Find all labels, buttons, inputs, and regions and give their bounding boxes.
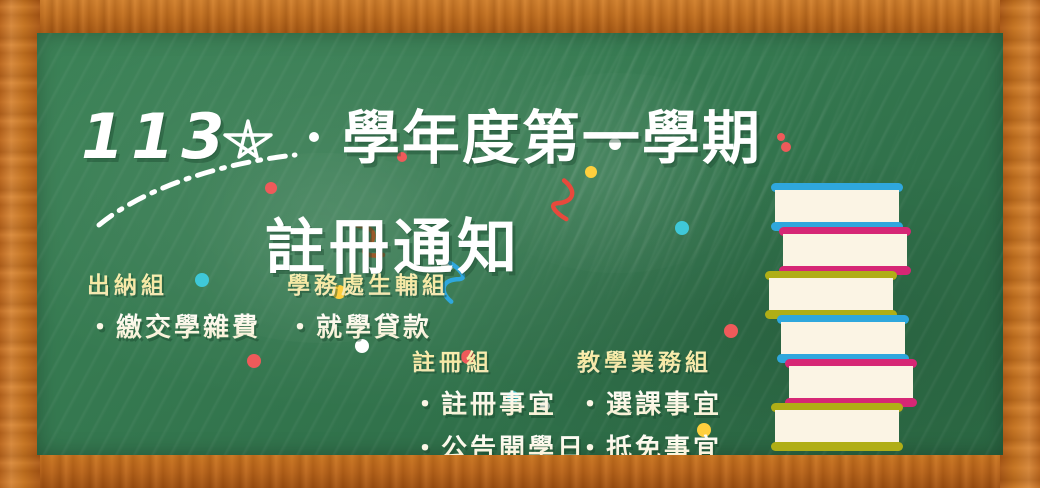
section-student-affairs: 學務處生輔組‧就學貸款	[287, 266, 449, 344]
book-pages	[775, 190, 899, 224]
section-heading: 出納組	[87, 266, 261, 300]
chalkboard-surface: 113 學年度第一學期 註冊通知 出納組‧繳交學雜費學務處生輔組‧就學貸款註冊組…	[37, 33, 1003, 455]
section-item: ‧註冊事宜	[412, 384, 586, 421]
frame-stile-left	[0, 0, 40, 488]
section-heading: 教學業務組	[577, 343, 722, 377]
book-pages	[775, 410, 899, 444]
book	[765, 271, 897, 319]
section-item: ‧選課事宜	[577, 384, 722, 421]
section-item: ‧抵免事宜	[577, 428, 722, 455]
book	[785, 359, 917, 407]
book-pages	[769, 278, 893, 312]
frame-stile-right	[1000, 0, 1040, 488]
book-cover-bottom	[771, 442, 903, 451]
book-pages	[789, 366, 913, 400]
frame-rail-top	[0, 0, 1040, 34]
section-registration: 註冊組‧註冊事宜‧公告開學日	[412, 343, 586, 455]
book	[777, 315, 909, 363]
frame-rail-bottom	[0, 454, 1040, 488]
academic-year-number: 113	[81, 100, 235, 173]
section-item: ‧繳交學雜費	[87, 307, 261, 344]
registration-notice-poster: 113 學年度第一學期 註冊通知 出納組‧繳交學雜費學務處生輔組‧就學貸款註冊組…	[0, 0, 1040, 488]
title-line-primary-text: 學年度第一學期	[342, 104, 762, 172]
section-cashier: 出納組‧繳交學雜費	[87, 266, 261, 344]
title-line-primary: 113 學年度第一學期	[81, 91, 762, 175]
section-heading: 學務處生輔組	[287, 266, 449, 300]
book-pages	[783, 234, 907, 268]
confetti-dot	[675, 221, 689, 235]
book-stack-illustration	[747, 183, 937, 455]
section-teaching-affairs: 教學業務組‧選課事宜‧抵免事宜	[577, 343, 722, 455]
section-item: ‧公告開學日	[412, 428, 586, 455]
confetti-dot	[781, 142, 791, 152]
section-item: ‧就學貸款	[287, 307, 449, 344]
confetti-dot	[247, 354, 261, 368]
confetti-dot	[777, 133, 785, 141]
book	[779, 227, 911, 275]
confetti-dot	[724, 324, 738, 338]
section-heading: 註冊組	[412, 343, 586, 377]
book	[771, 403, 903, 451]
book-pages	[781, 322, 905, 356]
book	[771, 183, 903, 231]
confetti-ribbon	[547, 177, 592, 226]
